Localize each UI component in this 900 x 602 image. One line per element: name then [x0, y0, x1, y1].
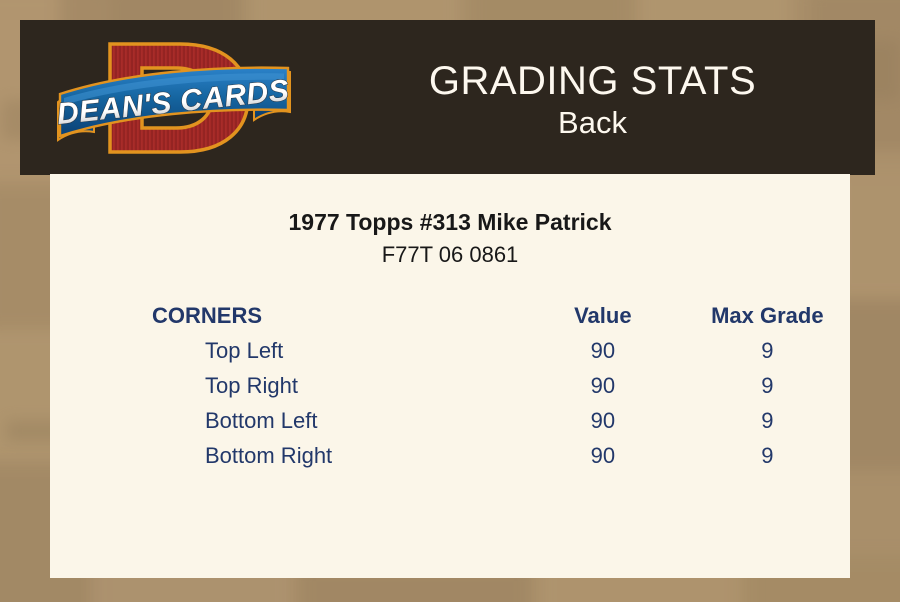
- cell-corner-max-grade: 9: [685, 403, 850, 438]
- cell-corner-value: 90: [521, 403, 685, 438]
- table-row: Top Right909: [50, 368, 850, 403]
- cell-corner-value: 90: [521, 438, 685, 473]
- page-title: GRADING STATS: [429, 58, 756, 104]
- cell-corner-label: Top Left: [50, 333, 521, 368]
- table-header-row: CORNERS Value Max Grade: [50, 298, 850, 333]
- cell-corner-label: Top Right: [50, 368, 521, 403]
- deans-cards-logo: DEAN'S CARDS: [48, 28, 298, 168]
- header-titles: GRADING STATS Back: [310, 20, 875, 175]
- table-row: Top Left909: [50, 333, 850, 368]
- cell-corner-max-grade: 9: [685, 438, 850, 473]
- column-header-corners: CORNERS: [50, 298, 521, 333]
- grading-stats-table: CORNERS Value Max Grade Top Left909Top R…: [50, 298, 850, 473]
- cell-corner-value: 90: [521, 333, 685, 368]
- card-serial-number: F77T 06 0861: [50, 242, 850, 268]
- column-header-max-grade: Max Grade: [685, 298, 850, 333]
- card-title: 1977 Topps #313 Mike Patrick: [50, 208, 850, 236]
- cell-corner-max-grade: 9: [685, 368, 850, 403]
- cell-corner-max-grade: 9: [685, 333, 850, 368]
- table-row: Bottom Left909: [50, 403, 850, 438]
- table-row: Bottom Right909: [50, 438, 850, 473]
- table-body: Top Left909Top Right909Bottom Left909Bot…: [50, 333, 850, 473]
- cell-corner-label: Bottom Left: [50, 403, 521, 438]
- header-bar: DEAN'S CARDS GRADING STATS Back: [20, 20, 875, 175]
- cell-corner-value: 90: [521, 368, 685, 403]
- column-header-value: Value: [521, 298, 685, 333]
- page-subtitle: Back: [558, 104, 627, 142]
- cell-corner-label: Bottom Right: [50, 438, 521, 473]
- content-panel: 1977 Topps #313 Mike Patrick F77T 06 086…: [50, 174, 850, 578]
